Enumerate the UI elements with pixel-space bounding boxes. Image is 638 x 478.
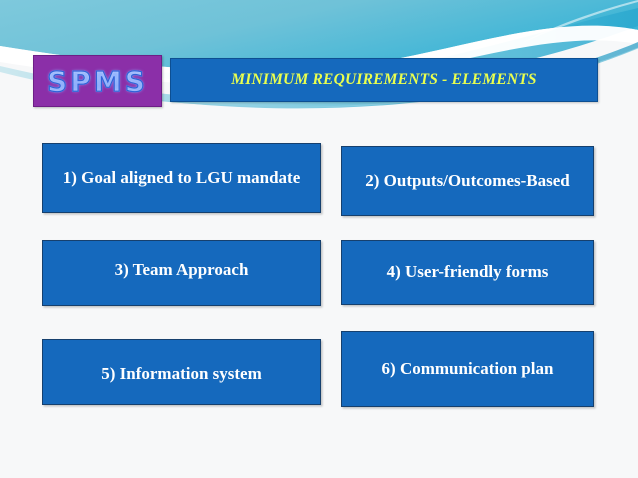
- wave-streak-topright: [520, 0, 638, 44]
- element-box-5: 5) Information system: [42, 339, 321, 405]
- element-box-5-label: 5) Information system: [93, 364, 270, 385]
- element-box-2-label: 2) Outputs/Outcomes-Based: [357, 171, 577, 192]
- element-box-3-label: 3) Team Approach: [107, 260, 257, 281]
- element-box-6-label: 6) Communication plan: [374, 359, 562, 380]
- element-box-6: 6) Communication plan: [341, 331, 594, 407]
- element-box-2: 2) Outputs/Outcomes-Based: [341, 146, 594, 216]
- element-box-4-label: 4) User-friendly forms: [379, 262, 557, 283]
- element-box-4: 4) User-friendly forms: [341, 240, 594, 305]
- slide-canvas: SPMS MINIMUM REQUIREMENTS - ELEMENTS 1) …: [0, 0, 638, 478]
- slide-title-text: MINIMUM REQUIREMENTS - ELEMENTS: [231, 71, 537, 89]
- slide-title-bar: MINIMUM REQUIREMENTS - ELEMENTS: [170, 58, 598, 102]
- element-box-1-label: 1) Goal aligned to LGU mandate: [55, 168, 309, 189]
- element-box-3: 3) Team Approach: [42, 240, 321, 306]
- spms-logo-text: SPMS: [45, 65, 150, 98]
- element-box-1: 1) Goal aligned to LGU mandate: [42, 143, 321, 213]
- spms-logo-box: SPMS: [33, 55, 162, 107]
